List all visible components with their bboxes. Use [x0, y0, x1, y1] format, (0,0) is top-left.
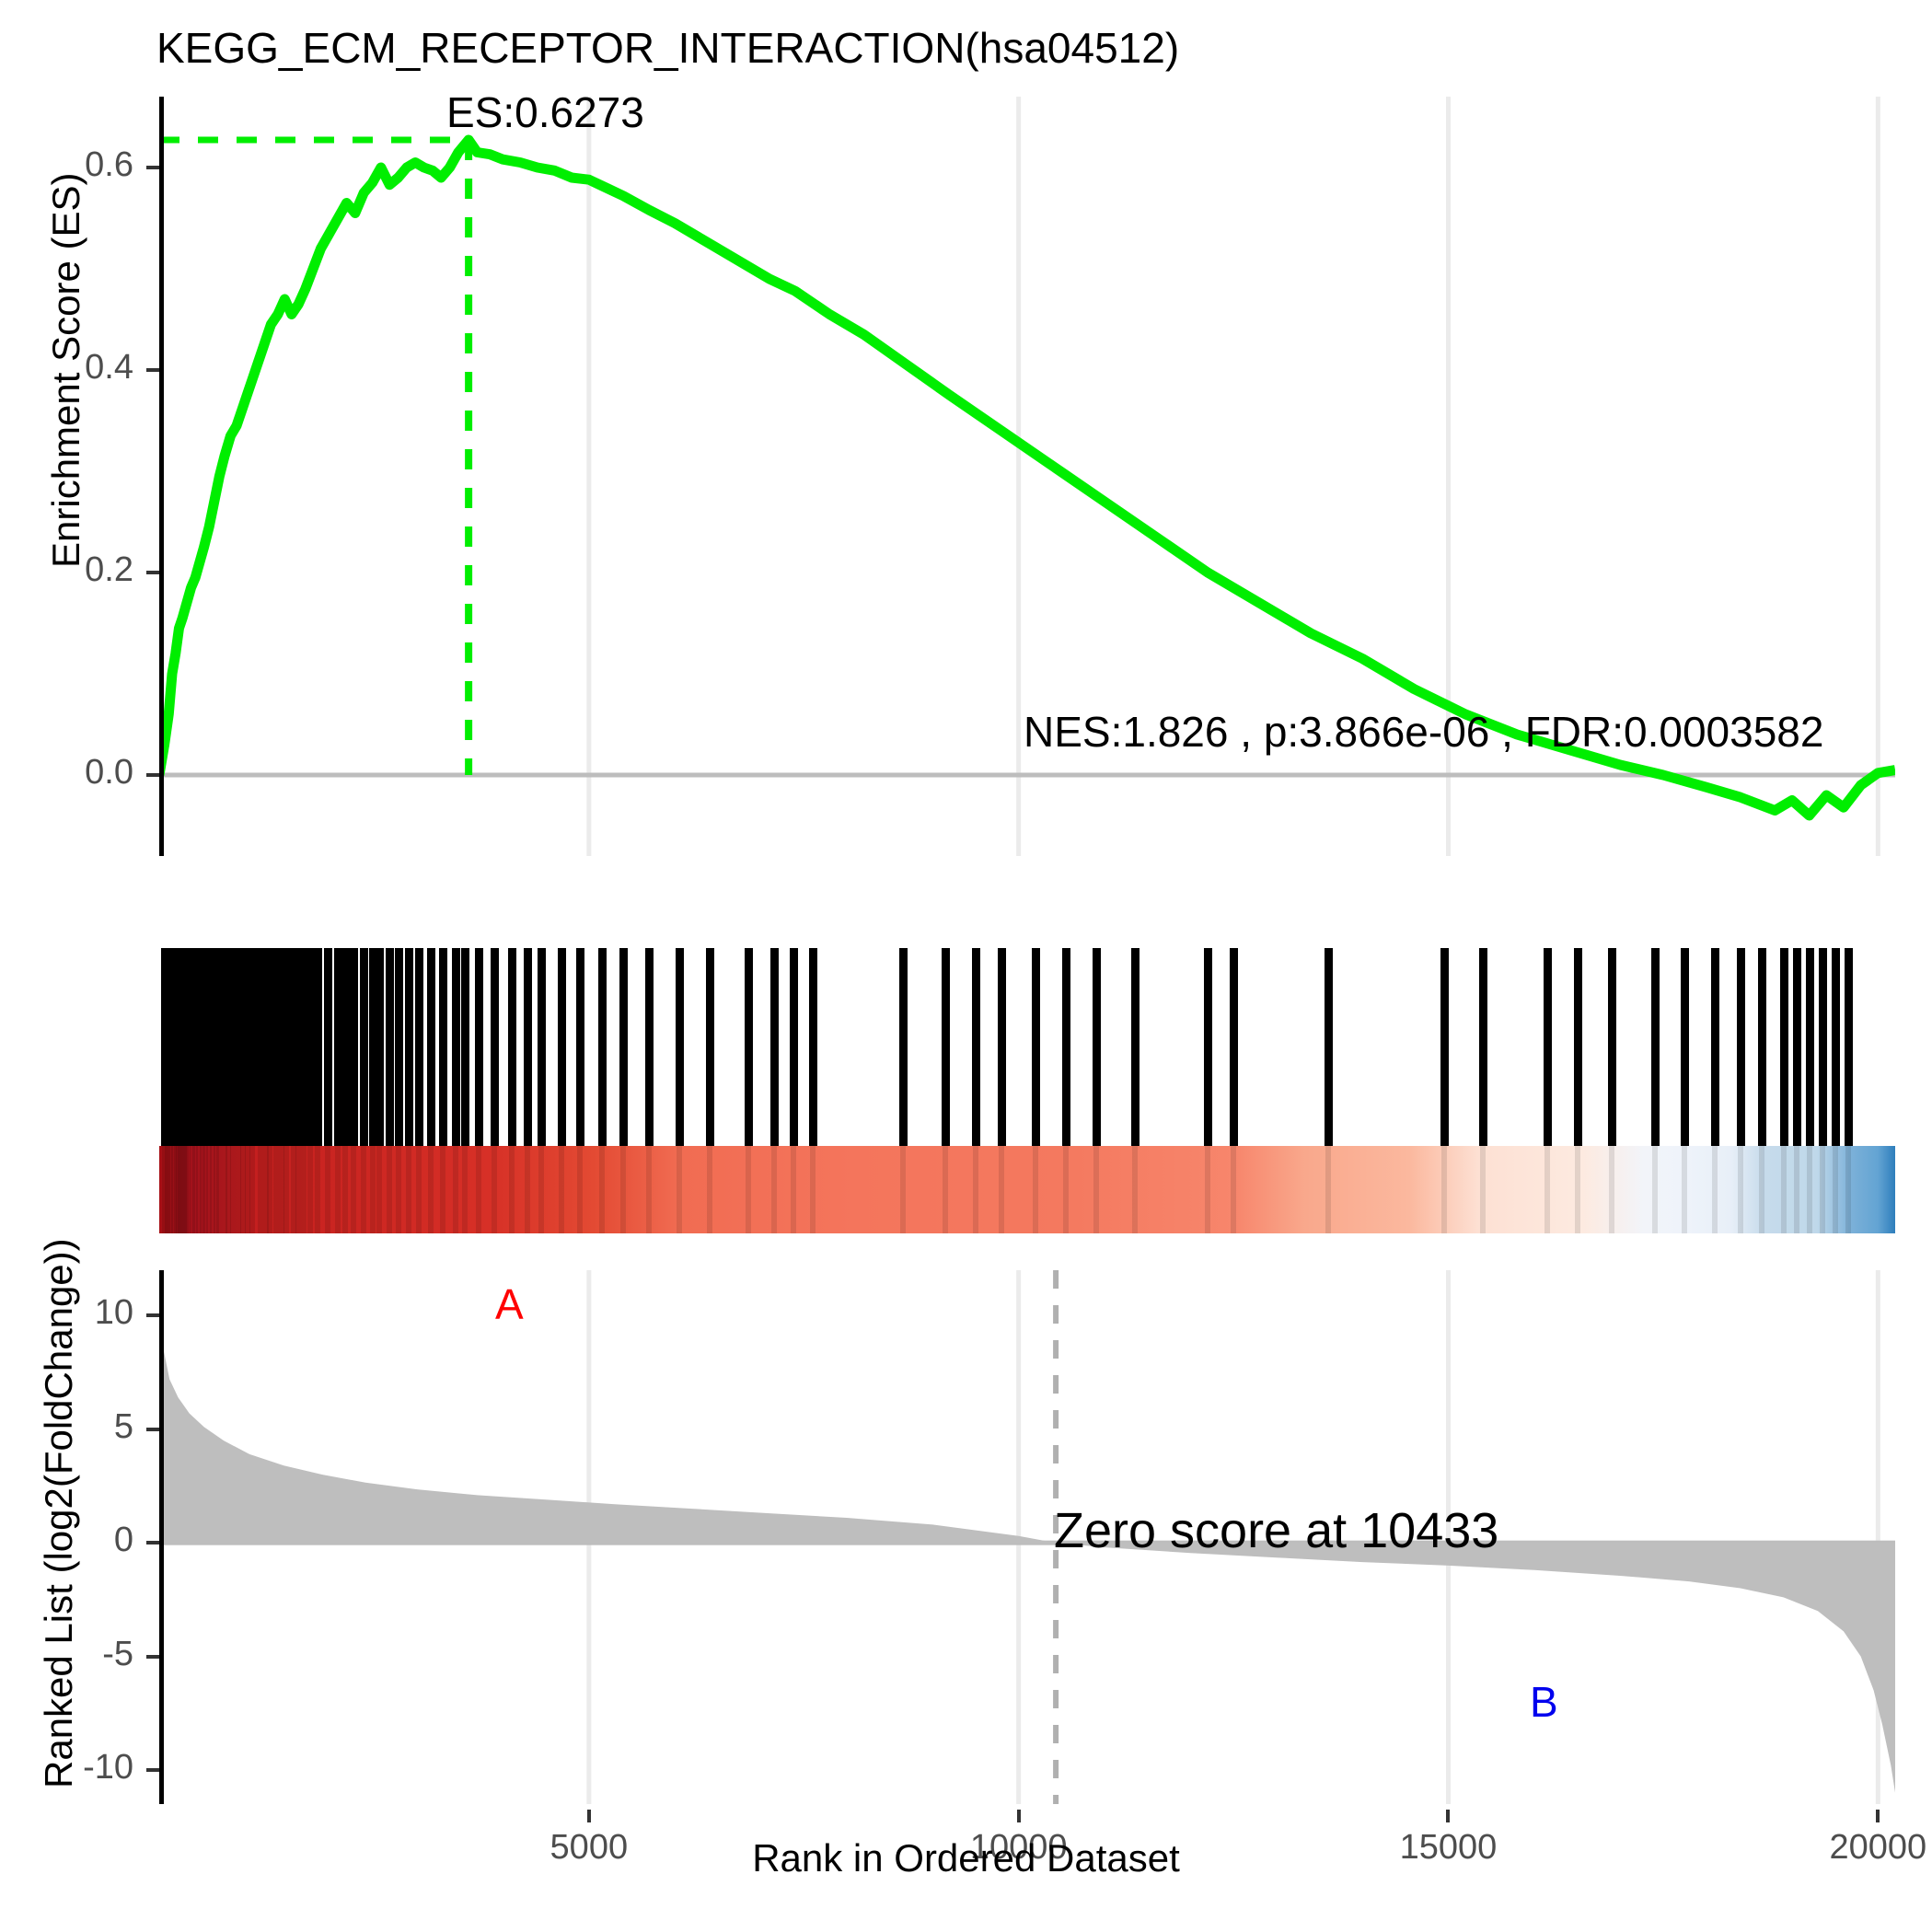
gene-hit-tick — [1681, 948, 1689, 1146]
gene-hit-tick — [324, 948, 332, 1146]
x-axis-title: Rank in Ordered Dataset — [0, 1836, 1932, 1880]
es-y-tick-mark — [146, 368, 159, 372]
gene-hit-tick — [706, 948, 714, 1146]
gene-hit-tick — [360, 948, 368, 1146]
rank-y-tick-label: -5 — [41, 1635, 133, 1674]
zero-score-annotation: Zero score at 10433 — [1054, 1502, 1498, 1559]
gene-hit-tick — [1711, 948, 1719, 1146]
ranked-list-panel — [159, 1270, 1895, 1804]
gene-hit-tick — [576, 948, 584, 1146]
es-y-tick-label: 0.0 — [55, 753, 133, 792]
gene-hit-tick — [524, 948, 532, 1146]
heatmap-hit-streak — [1833, 1146, 1838, 1233]
gene-hit-tick — [1806, 948, 1814, 1146]
rank-y-tick-mark — [146, 1655, 159, 1659]
gene-hit-tick — [439, 948, 447, 1146]
heatmap-hit-streak — [599, 1146, 605, 1233]
gene-hit-tick — [1544, 948, 1552, 1146]
gene-hit-tick — [645, 948, 654, 1146]
heatmap-hit-streak — [1093, 1146, 1099, 1233]
heatmap-hit-streak — [1231, 1146, 1236, 1233]
heatmap-hit-streak — [440, 1146, 445, 1233]
heatmap-hit-streak — [307, 1146, 313, 1233]
gene-hit-tick — [395, 948, 403, 1146]
heatmap-hit-streak — [1820, 1146, 1825, 1233]
gene-hit-tick — [452, 948, 460, 1146]
heatmap-hit-streak — [416, 1146, 422, 1233]
gene-hit-tick — [475, 948, 483, 1146]
heatmap-hit-streak — [791, 1146, 796, 1233]
gridline-vertical — [1876, 1270, 1880, 1804]
heatmap-hit-streak — [559, 1146, 564, 1233]
heatmap-hit-streak — [1652, 1146, 1658, 1233]
heatmap-hit-streak — [335, 1146, 341, 1233]
gene-hit-tick — [942, 948, 950, 1146]
phenotype-a-label: A — [495, 1279, 524, 1329]
gene-hit-tick — [350, 948, 358, 1146]
heatmap-hit-streak — [476, 1146, 481, 1233]
gene-hit-tick — [1780, 948, 1788, 1146]
gene-hit-tick — [1574, 948, 1582, 1146]
gene-hit-tick — [341, 948, 350, 1146]
gridline-vertical — [1876, 97, 1880, 856]
heatmap-hit-streak — [646, 1146, 652, 1233]
heatmap-hit-streak — [1794, 1146, 1799, 1233]
page-title: KEGG_ECM_RECEPTOR_INTERACTION(hsa04512) — [156, 23, 1179, 73]
heatmap-hit-streak — [577, 1146, 583, 1233]
heatmap-hit-streak — [462, 1146, 468, 1233]
gene-hit-tick — [998, 948, 1006, 1146]
heatmap-hit-streak — [1544, 1146, 1550, 1233]
heatmap-hit-streak — [267, 1146, 272, 1233]
heatmap-hit-streak — [315, 1146, 320, 1233]
heatmap-hit-streak — [1480, 1146, 1486, 1233]
heatmap-hit-streak — [1441, 1146, 1447, 1233]
es-y-tick-mark — [146, 571, 159, 574]
x-axis-tick-mark — [1017, 1810, 1021, 1822]
gene-hit-tick — [508, 948, 516, 1146]
es-y-tick-mark — [146, 773, 159, 777]
gridline-vertical — [1016, 97, 1021, 856]
gene-hit-tick — [809, 948, 817, 1146]
rank-y-tick-mark — [146, 1768, 159, 1772]
heatmap-hit-streak — [1063, 1146, 1069, 1233]
heatmap-hit-streak — [283, 1146, 289, 1233]
heatmap-hit-streak — [492, 1146, 497, 1233]
heatmap-hit-streak — [1712, 1146, 1718, 1233]
heatmap-hit-streak — [746, 1146, 751, 1233]
gene-hit-tick — [899, 948, 908, 1146]
heatmap-hit-streak — [1845, 1146, 1851, 1233]
ranked-list-area — [159, 1309, 1895, 1793]
gene-hit-tick — [1204, 948, 1212, 1146]
gene-hit-tick — [415, 948, 423, 1146]
gene-hit-tick — [1737, 948, 1745, 1146]
es-y-tick-mark — [146, 166, 159, 169]
gene-hit-tick — [1651, 948, 1660, 1146]
rank-y-tick-mark — [146, 1428, 159, 1431]
heatmap-hit-streak — [453, 1146, 458, 1233]
heatmap-hit-streak — [351, 1146, 356, 1233]
gene-hit-tick — [538, 948, 546, 1146]
gene-hit-tick — [314, 948, 322, 1146]
gene-hit-tick — [1062, 948, 1070, 1146]
heatmap-hit-streak — [1325, 1146, 1331, 1233]
gene-hit-tick — [558, 948, 566, 1146]
heatmap-hit-streak — [376, 1146, 382, 1233]
heatmap-hit-streak — [370, 1146, 376, 1233]
gsea-enrichment-plot: KEGG_ECM_RECEPTOR_INTERACTION(hsa04512) … — [0, 0, 1932, 1932]
gene-hit-tick — [1440, 948, 1449, 1146]
gene-hit-tick — [461, 948, 469, 1146]
gene-hit-tick — [676, 948, 684, 1146]
heatmap-hit-streak — [707, 1146, 712, 1233]
heatmap-hit-streak — [387, 1146, 392, 1233]
rank-y-axis-line — [159, 1270, 164, 1804]
rank-y-tick-mark — [146, 1541, 159, 1544]
gene-hit-tick — [1093, 948, 1101, 1146]
gene-hit-tick — [386, 948, 394, 1146]
heatmap-hit-streak — [1132, 1146, 1138, 1233]
heatmap-hit-streak — [999, 1146, 1004, 1233]
es-y-tick-label: 0.6 — [55, 145, 133, 185]
heatmap-hit-streak — [1781, 1146, 1787, 1233]
gene-hit-tick — [427, 948, 435, 1146]
heatmap-hit-streak — [325, 1146, 330, 1233]
phenotype-b-label: B — [1530, 1677, 1558, 1727]
heatmap-hit-streak — [810, 1146, 816, 1233]
heatmap-hit-streak — [249, 1146, 255, 1233]
rank-y-tick-label: 10 — [41, 1293, 133, 1333]
es-value-annotation: ES:0.6273 — [446, 87, 644, 137]
gene-hit-ticks-panel — [159, 948, 1895, 1146]
heatmap-hit-streak — [677, 1146, 682, 1233]
x-axis-tick-mark — [1876, 1810, 1880, 1822]
heatmap-hit-streak — [1575, 1146, 1580, 1233]
gene-hit-tick — [1845, 948, 1853, 1146]
heatmap-hit-streak — [1609, 1146, 1614, 1233]
ranked-list-heatmap-strip — [159, 1146, 1895, 1233]
gene-hit-tick — [1819, 948, 1827, 1146]
heatmap-hit-streak — [342, 1146, 348, 1233]
gene-hit-tick — [598, 948, 607, 1146]
rank-y-tick-label: 5 — [41, 1407, 133, 1447]
gridline-vertical — [586, 97, 591, 856]
gene-hit-tick — [745, 948, 753, 1146]
es-y-tick-label: 0.4 — [55, 348, 133, 388]
heatmap-hit-streak — [1033, 1146, 1038, 1233]
heatmap-hit-streak — [1738, 1146, 1743, 1233]
heatmap-hit-streak — [406, 1146, 411, 1233]
heatmap-hit-streak — [900, 1146, 906, 1233]
gene-hit-tick — [1325, 948, 1333, 1146]
heatmap-hit-streak — [428, 1146, 434, 1233]
heatmap-hit-streak — [943, 1146, 948, 1233]
gene-hit-tick — [1479, 948, 1487, 1146]
gene-hit-tick — [376, 948, 384, 1146]
gene-hit-tick — [405, 948, 413, 1146]
rank-y-tick-label: 0 — [41, 1521, 133, 1560]
heatmap-hit-streak — [538, 1146, 544, 1233]
heatmap-hit-streak — [509, 1146, 515, 1233]
stats-annotation: NES:1.826 , p:3.866e-06 , FDR:0.0003582 — [1024, 707, 1823, 757]
heatmap-hit-streak — [620, 1146, 626, 1233]
es-y-axis-line — [159, 97, 164, 856]
heatmap-hit-streak — [771, 1146, 777, 1233]
es-y-tick-label: 0.2 — [55, 550, 133, 590]
heatmap-hit-streak — [1205, 1146, 1210, 1233]
heatmap-hit-streak — [525, 1146, 530, 1233]
gene-hit-tick — [1032, 948, 1040, 1146]
heatmap-hit-streak — [301, 1146, 307, 1233]
heatmap-hit-streak — [1807, 1146, 1812, 1233]
gene-hit-tick — [491, 948, 499, 1146]
heatmap-hit-streak — [396, 1146, 401, 1233]
gene-hit-tick — [1230, 948, 1238, 1146]
gene-hit-tick — [1131, 948, 1140, 1146]
rank-y-tick-mark — [146, 1313, 159, 1317]
heatmap-hit-streak — [1682, 1146, 1687, 1233]
x-axis-tick-mark — [587, 1810, 591, 1822]
heatmap-hit-streak — [1759, 1146, 1764, 1233]
heatmap-hit-streak — [973, 1146, 978, 1233]
gene-hit-tick — [619, 948, 628, 1146]
gene-hit-tick — [972, 948, 980, 1146]
ranked-list-chart — [159, 1270, 1895, 1804]
gene-hit-tick — [1608, 948, 1616, 1146]
gene-hit-tick — [1793, 948, 1801, 1146]
gene-hit-tick — [249, 948, 257, 1146]
gene-hit-tick — [770, 948, 779, 1146]
x-axis-tick-mark — [1446, 1810, 1450, 1822]
rank-y-tick-label: -10 — [41, 1748, 133, 1787]
gene-hit-tick — [790, 948, 798, 1146]
gene-hit-tick — [1832, 948, 1840, 1146]
gene-hit-tick — [1758, 948, 1766, 1146]
heatmap-hit-streak — [361, 1146, 366, 1233]
